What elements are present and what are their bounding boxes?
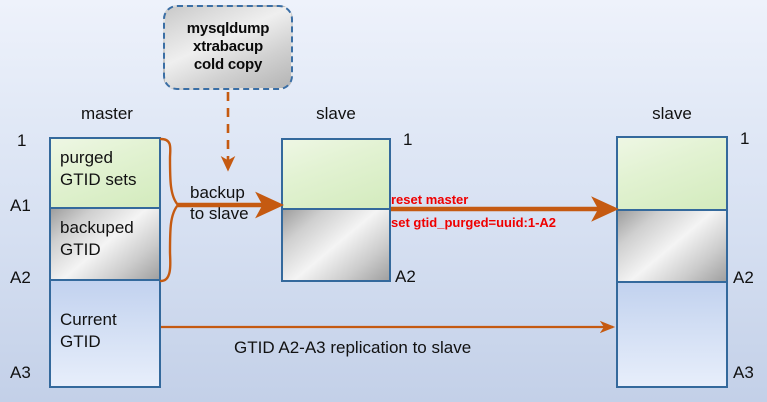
tool-line-mysqldump: mysqldump <box>187 21 269 38</box>
reset-master-label: reset master <box>391 192 468 208</box>
tool-line-xtrabacup: xtrabacup <box>193 39 263 56</box>
master-tick-a1: A1 <box>10 196 31 216</box>
slave-right-gtid-box <box>616 136 728 388</box>
slave-right-tick-a3: A3 <box>733 363 754 383</box>
slave-middle-gtid-box <box>281 138 391 282</box>
slave-middle-title: slave <box>281 104 391 124</box>
slave-right-tick-1: 1 <box>740 129 749 149</box>
backup-arrow-label: backup to slave <box>190 182 249 225</box>
master-segment-current-label: Current GTID <box>60 309 117 354</box>
slave-middle-segment-purged <box>283 140 389 210</box>
master-segment-purged-label: purged GTID sets <box>60 147 137 192</box>
slave-right-title: slave <box>616 104 728 124</box>
backup-method-box: mysqldump xtrabacup cold copy <box>163 5 293 90</box>
master-segment-backuped-label: backuped GTID <box>60 217 134 262</box>
master-tick-a2: A2 <box>10 268 31 288</box>
slave-middle-tick-1: 1 <box>403 130 412 150</box>
replication-arrow-label: GTID A2-A3 replication to slave <box>234 337 471 358</box>
master-segment-purged: purged GTID sets <box>51 139 159 209</box>
slave-right-segment-backuped <box>618 211 726 283</box>
slave-right-segment-current <box>618 283 726 386</box>
diagram-canvas: mysqldump xtrabacup cold copy master pur… <box>0 0 767 402</box>
slave-right-tick-a2: A2 <box>733 268 754 288</box>
tool-line-cold-copy: cold copy <box>194 57 262 74</box>
master-brace <box>161 139 178 281</box>
slave-middle-segment-backuped <box>283 210 389 280</box>
master-title: master <box>47 104 167 124</box>
master-segment-backuped: backuped GTID <box>51 209 159 281</box>
master-gtid-box: purged GTID sets backuped GTID Current G… <box>49 137 161 388</box>
set-gtid-purged-label: set gtid_purged=uuid:1-A2 <box>391 215 556 231</box>
slave-right-segment-purged <box>618 138 726 211</box>
slave-middle-tick-a2: A2 <box>395 267 416 287</box>
master-tick-a3: A3 <box>10 363 31 383</box>
master-tick-1: 1 <box>17 131 26 151</box>
master-segment-current: Current GTID <box>51 281 159 386</box>
